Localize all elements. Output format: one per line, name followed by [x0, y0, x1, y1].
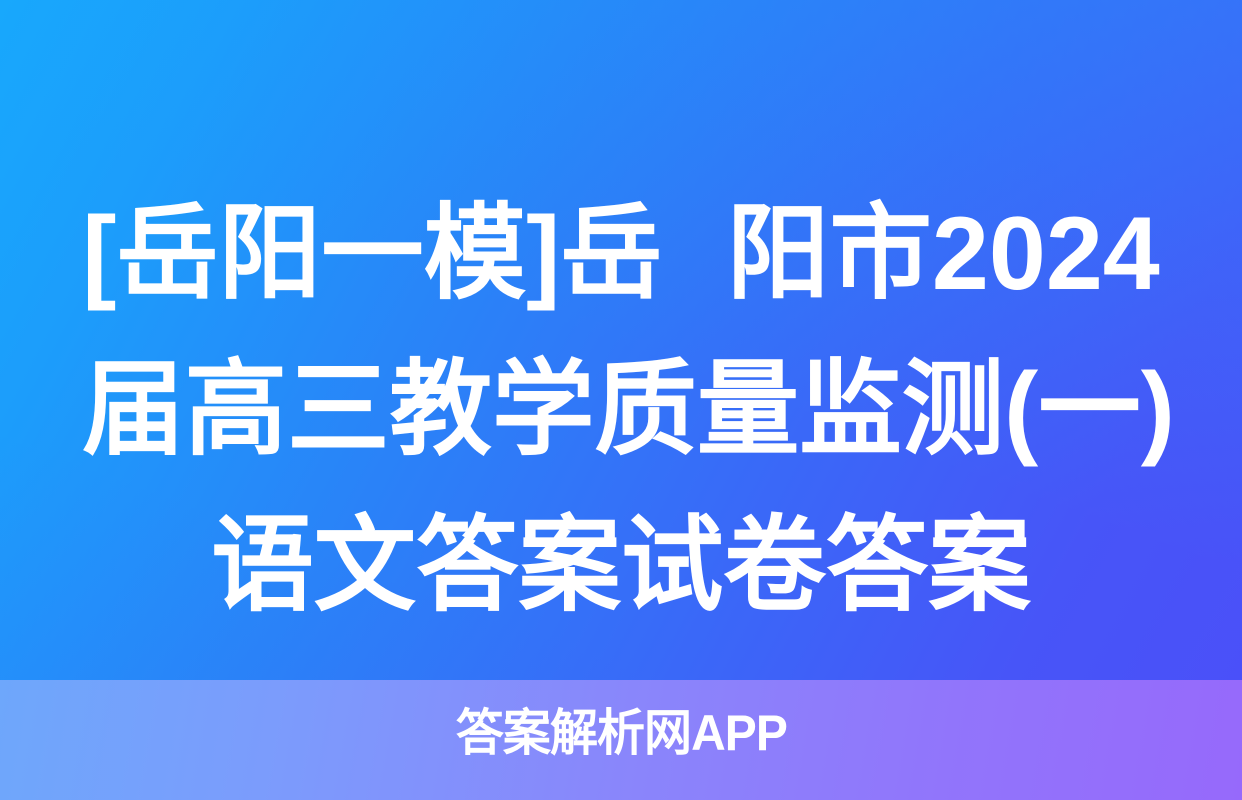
title-line-1: [岳阳一模]岳 阳市2024	[82, 176, 1160, 332]
title-line-2-segment-b: 量监测(一)	[697, 332, 1175, 488]
footer-watermark-band: 答案解析网APP	[0, 680, 1242, 800]
title-line-2-segment-a: 届高三教学质	[82, 332, 697, 488]
title-line-3: 语文答案试卷答案	[82, 488, 1160, 644]
title-line-2: 届高三教学质 量监测(一)	[82, 332, 1160, 488]
title-line-1-segment-b: 阳市2024	[727, 176, 1160, 332]
title-line-1-segment-a: [岳阳一模]岳	[82, 176, 662, 332]
title-block: [岳阳一模]岳 阳市2024 届高三教学质 量监测(一) 语文答案试卷答案	[74, 176, 1168, 644]
poster-canvas: [岳阳一模]岳 阳市2024 届高三教学质 量监测(一) 语文答案试卷答案 答案…	[0, 0, 1242, 800]
footer-brand-text: 答案解析网APP	[455, 708, 786, 758]
